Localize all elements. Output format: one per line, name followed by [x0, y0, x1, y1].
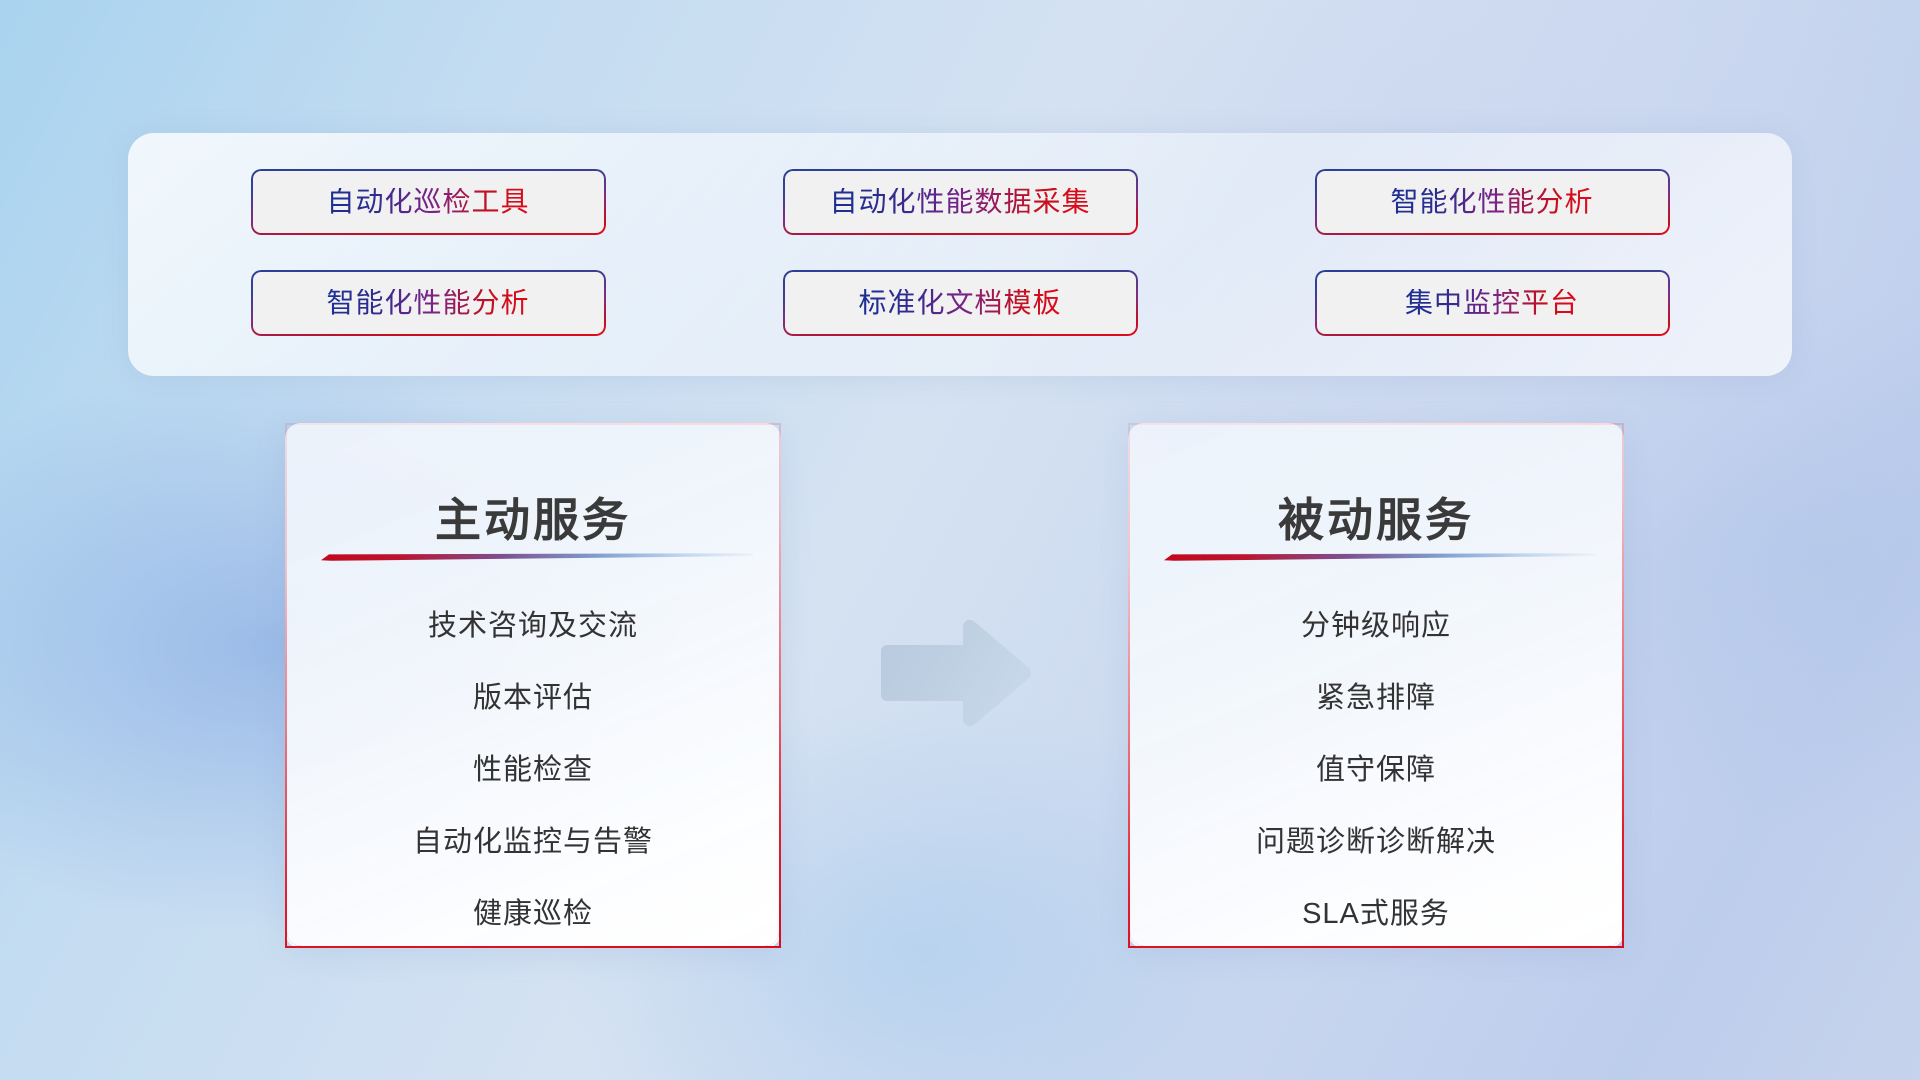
list-item[interactable]: 性能检查: [473, 734, 593, 806]
capability-panel: 自动化巡检工具 自动化性能数据采集 智能化性能分析 智能化性能分析 标准化文档模…: [128, 133, 1792, 376]
capability-tag-3[interactable]: 智能化性能分析: [251, 270, 606, 336]
capability-tag-label: 集中监控平台: [1405, 289, 1579, 317]
list-item[interactable]: 紧急排障: [1316, 662, 1436, 734]
capability-tag-0[interactable]: 自动化巡检工具: [251, 169, 606, 235]
capability-tag-label: 智能化性能分析: [1390, 188, 1593, 216]
list-item[interactable]: 健康巡检: [473, 878, 593, 948]
capability-tag-label: 自动化性能数据采集: [829, 188, 1090, 216]
list-item[interactable]: 值守保障: [1316, 734, 1436, 806]
card-title: 主动服务: [287, 495, 779, 546]
capability-tag-2[interactable]: 智能化性能分析: [1315, 169, 1670, 235]
list-item[interactable]: 自动化监控与告警: [413, 806, 653, 878]
capability-tag-label: 自动化巡检工具: [326, 188, 529, 216]
capability-tag-label: 标准化文档模板: [858, 289, 1061, 317]
list-item[interactable]: 技术咨询及交流: [428, 590, 638, 662]
card-item-list: 分钟级响应 紧急排障 值守保障 问题诊断诊断解决 SLA式服务: [1130, 590, 1622, 948]
list-item[interactable]: 版本评估: [473, 662, 593, 734]
card-title: 被动服务: [1130, 495, 1622, 546]
service-card-passive[interactable]: 被动服务 分钟级响应 紧急排障 值守保障: [1128, 423, 1624, 948]
capability-tag-grid: 自动化巡检工具 自动化性能数据采集 智能化性能分析 智能化性能分析 标准化文档模…: [128, 133, 1792, 376]
card-divider: [1164, 553, 1596, 561]
card-item-list: 技术咨询及交流 版本评估 性能检查 自动化监控与告警 健康巡检: [287, 590, 779, 948]
list-item[interactable]: SLA式服务: [1302, 878, 1450, 948]
card-divider: [321, 553, 753, 561]
list-item[interactable]: 问题诊断诊断解决: [1256, 806, 1496, 878]
list-item[interactable]: 分钟级响应: [1301, 590, 1451, 662]
capability-tag-5[interactable]: 集中监控平台: [1315, 270, 1670, 336]
arrow-right-icon: [875, 618, 1035, 728]
service-card-active[interactable]: 主动服务 技术咨询及交流 版本评估 性能检查: [285, 423, 781, 948]
capability-tag-1[interactable]: 自动化性能数据采集: [783, 169, 1138, 235]
slide-canvas: 自动化巡检工具 自动化性能数据采集 智能化性能分析 智能化性能分析 标准化文档模…: [0, 0, 1920, 1080]
capability-tag-4[interactable]: 标准化文档模板: [783, 270, 1138, 336]
capability-tag-label: 智能化性能分析: [326, 289, 529, 317]
